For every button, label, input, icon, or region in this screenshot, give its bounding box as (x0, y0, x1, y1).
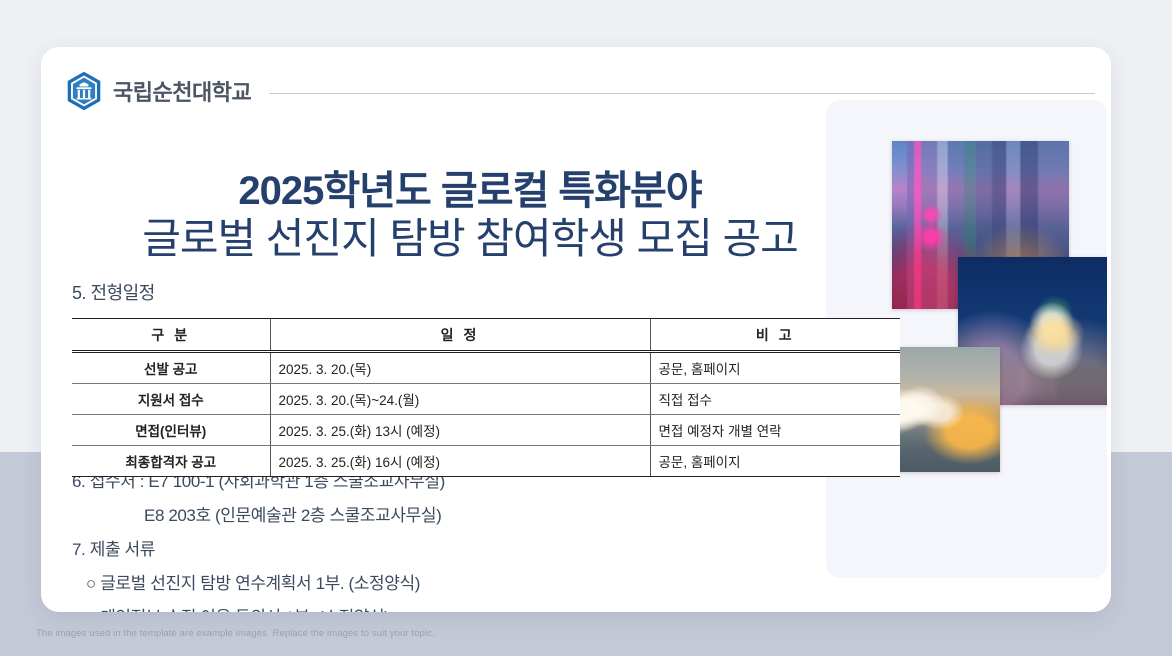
announcement-card: 국립순천대학교 2025학년도 글로컬 특화분야 글로벌 선진지 탐방 참여학생… (41, 47, 1111, 612)
note-line-document-1: ○ 글로벌 선진지 탐방 연수계획서 1부. (소정양식) (72, 569, 792, 594)
cell-note: 직접 접수 (650, 384, 900, 415)
cell-note: 공문, 홈페이지 (650, 352, 900, 384)
university-name-label: 국립순천대학교 (113, 75, 251, 107)
cell-schedule: 2025. 3. 20.(목) (270, 352, 650, 384)
column-header-note: 비 고 (650, 319, 900, 352)
table-row: 선발 공고 2025. 3. 20.(목) 공문, 홈페이지 (72, 352, 900, 384)
schedule-table-body: 선발 공고 2025. 3. 20.(목) 공문, 홈페이지 지원서 접수 20… (72, 352, 900, 477)
page-title: 2025학년도 글로컬 특화분야 글로벌 선진지 탐방 참여학생 모집 공고 (41, 169, 899, 262)
template-disclaimer: The images used in the template are exam… (36, 628, 435, 639)
schedule-table-head: 구 분 일 정 비 고 (72, 319, 900, 352)
title-line-2: 글로벌 선진지 탐방 참여학생 모집 공고 (41, 215, 899, 263)
table-row: 최종합격자 공고 2025. 3. 25.(화) 16시 (예정) 공문, 홈페… (72, 446, 900, 477)
title-line-1-rest: 학년도 글로컬 특화분야 (323, 169, 701, 213)
cell-category: 면접(인터뷰) (72, 415, 270, 446)
table-header-row: 구 분 일 정 비 고 (72, 319, 900, 352)
cell-category: 지원서 접수 (72, 384, 270, 415)
section-heading-schedule: 5. 전형일정 (72, 279, 155, 305)
schedule-table: 구 분 일 정 비 고 선발 공고 2025. 3. 20.(목) 공문, 홈페… (72, 318, 900, 477)
cell-schedule: 2025. 3. 25.(화) 16시 (예정) (270, 446, 650, 477)
cell-category: 최종합격자 공고 (72, 446, 270, 477)
slide-canvas: 국립순천대학교 2025학년도 글로컬 특화분야 글로벌 선진지 탐방 참여학생… (0, 0, 1172, 656)
column-header-schedule: 일 정 (270, 319, 650, 352)
title-line-1: 2025학년도 글로컬 특화분야 (41, 169, 899, 215)
table-row: 면접(인터뷰) 2025. 3. 25.(화) 13시 (예정) 면접 예정자 … (72, 415, 900, 446)
note-line-documents-heading: 7. 제출 서류 (72, 535, 792, 560)
cell-note: 면접 예정자 개별 연락 (650, 415, 900, 446)
notes-block: 6. 접수처 : E7 100-1 (사회과학관 1층 스쿨조교사무실) E8 … (72, 467, 792, 612)
cell-schedule: 2025. 3. 20.(목)~24.(월) (270, 384, 650, 415)
cell-note: 공문, 홈페이지 (650, 446, 900, 477)
title-year: 2025 (238, 169, 323, 213)
cell-category: 선발 공고 (72, 352, 270, 384)
cell-schedule: 2025. 3. 25.(화) 13시 (예정) (270, 415, 650, 446)
note-line-document-2: ○ 개인정보 수집 이용 동의서 1부. (소정양식) (72, 603, 792, 612)
table-row: 지원서 접수 2025. 3. 20.(목)~24.(월) 직접 접수 (72, 384, 900, 415)
hexagon-university-emblem-icon (65, 71, 103, 111)
note-line-receiving-office-2: E8 203호 (인문예술관 2층 스쿨조교사무실) (72, 501, 792, 526)
header-divider (269, 93, 1095, 94)
column-header-category: 구 분 (72, 319, 270, 352)
